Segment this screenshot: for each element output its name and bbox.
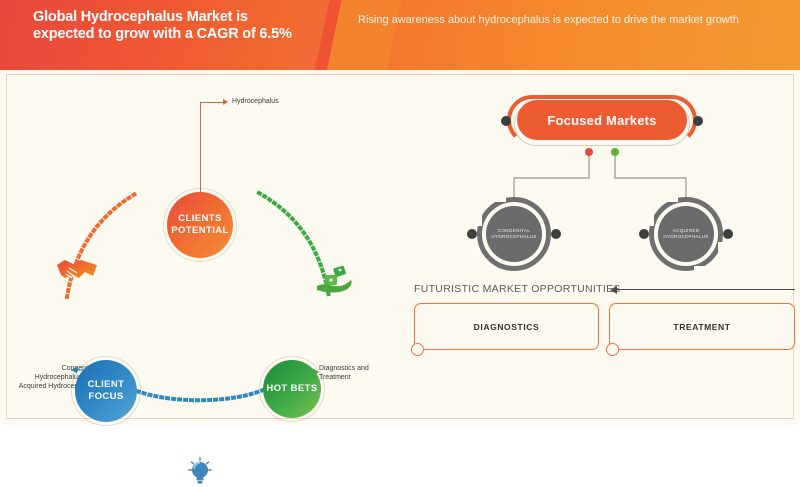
page-subtitle: Rising awareness about hydrocephalus is …: [358, 13, 778, 28]
header-banner: Global Hydrocephalus Market is expected …: [0, 0, 800, 70]
connector-congenital: [514, 153, 589, 198]
bubble-hot-bets[interactable]: HOT BETS: [263, 360, 321, 418]
congenital-hydrocephalus-label: CONGENITAL HYDROCEPHALUS: [486, 228, 542, 240]
bubble-client-focus-label: CLIENT FOCUS: [75, 379, 137, 403]
left-diagram: Hydrocephalus Congenital Hydrocephalus a…: [7, 75, 402, 420]
opportunities-title: FUTURISTIC MARKET OPPORTUNITIES: [414, 283, 621, 295]
node-right-dot: [723, 229, 733, 239]
node-connectors: [402, 75, 795, 420]
node-left-dot: [639, 229, 649, 239]
opportunities-arrow-line: [617, 289, 795, 290]
bubble-clients-potential-label: CLIENTS POTENTIAL: [167, 213, 233, 237]
connector-dot-red: [585, 148, 593, 156]
acquired-hydrocephalus-node[interactable]: ACQUIRED HYDROCEPHALUS: [649, 197, 723, 271]
diagnostics-box[interactable]: DIAGNOSTICS: [414, 303, 599, 350]
treatment-box[interactable]: TREATMENT: [609, 303, 795, 350]
right-diagram: Focused Markets CONGENITAL HYDROCEPHALUS: [402, 75, 795, 420]
lightbulb-icon: [186, 457, 214, 487]
node-right-dot: [551, 229, 561, 239]
acquired-hydrocephalus-label: ACQUIRED HYDROCEPHALUS: [658, 228, 714, 240]
bubble-hot-bets-label: HOT BETS: [266, 383, 317, 395]
infographic-root: Global Hydrocephalus Market is expected …: [0, 0, 800, 425]
diagnostics-box-corner-circle: [411, 343, 424, 356]
node-inner-circle: CONGENITAL HYDROCEPHALUS: [486, 206, 542, 262]
bubble-client-focus[interactable]: CLIENT FOCUS: [75, 360, 137, 422]
connector-dot-green: [611, 148, 619, 156]
opportunities-arrowhead: [610, 286, 617, 294]
treatment-box-corner-circle: [606, 343, 619, 356]
client-focus-arrowhead: [71, 367, 77, 374]
node-left-dot: [467, 229, 477, 239]
handshake-icon: [55, 256, 99, 286]
connector-acquired: [615, 153, 686, 198]
content-panel: Hydrocephalus Congenital Hydrocephalus a…: [6, 74, 794, 419]
bubble-clients-potential[interactable]: CLIENTS POTENTIAL: [167, 192, 233, 258]
page-title: Global Hydrocephalus Market is expected …: [33, 9, 303, 43]
congenital-hydrocephalus-node[interactable]: CONGENITAL HYDROCEPHALUS: [477, 197, 551, 271]
node-inner-circle: ACQUIRED HYDROCEPHALUS: [658, 206, 714, 262]
treatment-box-label: TREATMENT: [673, 322, 730, 332]
diagnostics-box-label: DIAGNOSTICS: [474, 322, 540, 332]
hand-money-icon: [317, 265, 357, 297]
